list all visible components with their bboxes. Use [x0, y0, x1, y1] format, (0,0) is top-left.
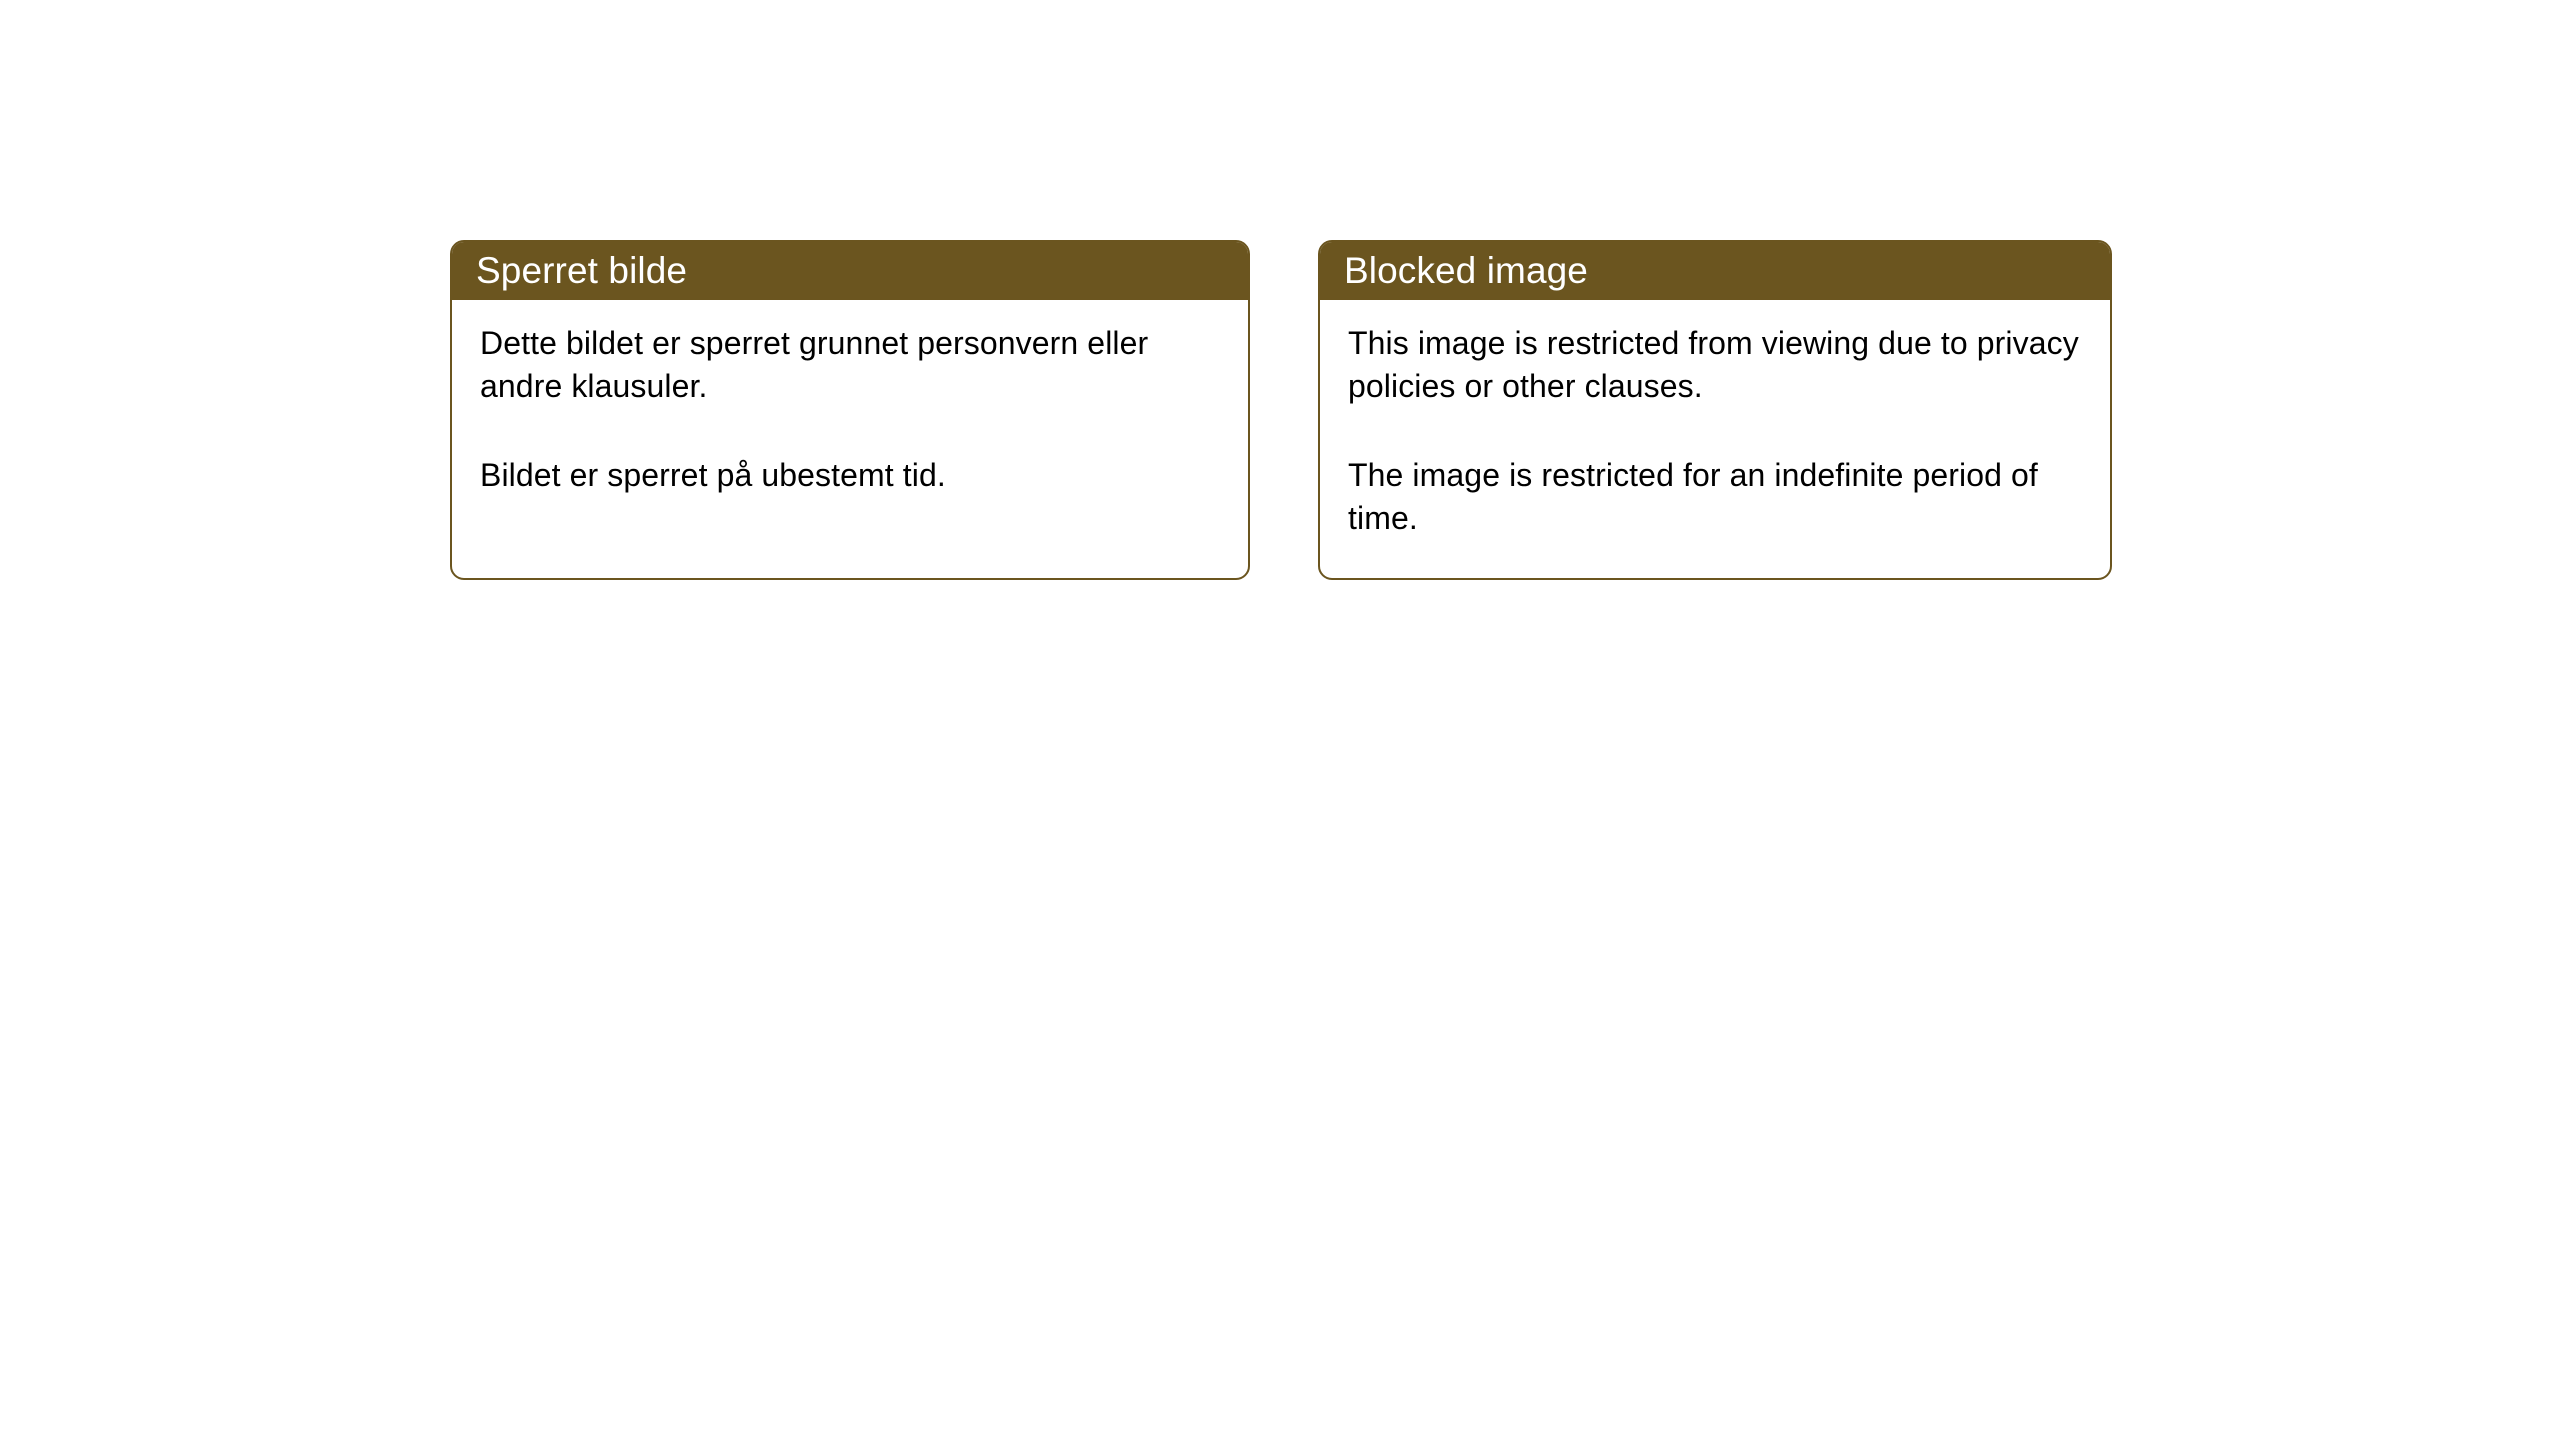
card-title-english: Blocked image	[1344, 252, 1588, 289]
card-body-english: This image is restricted from viewing du…	[1320, 300, 2110, 578]
card-paragraph-primary-norwegian: Dette bildet er sperret grunnet personve…	[480, 322, 1218, 408]
paragraph-spacer	[1348, 408, 2080, 454]
notice-cards-container: Sperret bilde Dette bildet er sperret gr…	[450, 240, 2112, 580]
card-body-norwegian: Dette bildet er sperret grunnet personve…	[452, 300, 1248, 578]
card-paragraph-secondary-norwegian: Bildet er sperret på ubestemt tid.	[480, 454, 1218, 497]
card-title-norwegian: Sperret bilde	[476, 252, 687, 289]
blocked-image-notice-card-english: Blocked image This image is restricted f…	[1318, 240, 2112, 580]
blocked-image-notice-card-norwegian: Sperret bilde Dette bildet er sperret gr…	[450, 240, 1250, 580]
card-paragraph-primary-english: This image is restricted from viewing du…	[1348, 322, 2080, 408]
card-paragraph-secondary-english: The image is restricted for an indefinit…	[1348, 454, 2080, 540]
page-root: Sperret bilde Dette bildet er sperret gr…	[0, 0, 2560, 1440]
paragraph-spacer	[480, 408, 1218, 454]
card-header-norwegian: Sperret bilde	[450, 240, 1250, 300]
card-header-english: Blocked image	[1318, 240, 2112, 300]
